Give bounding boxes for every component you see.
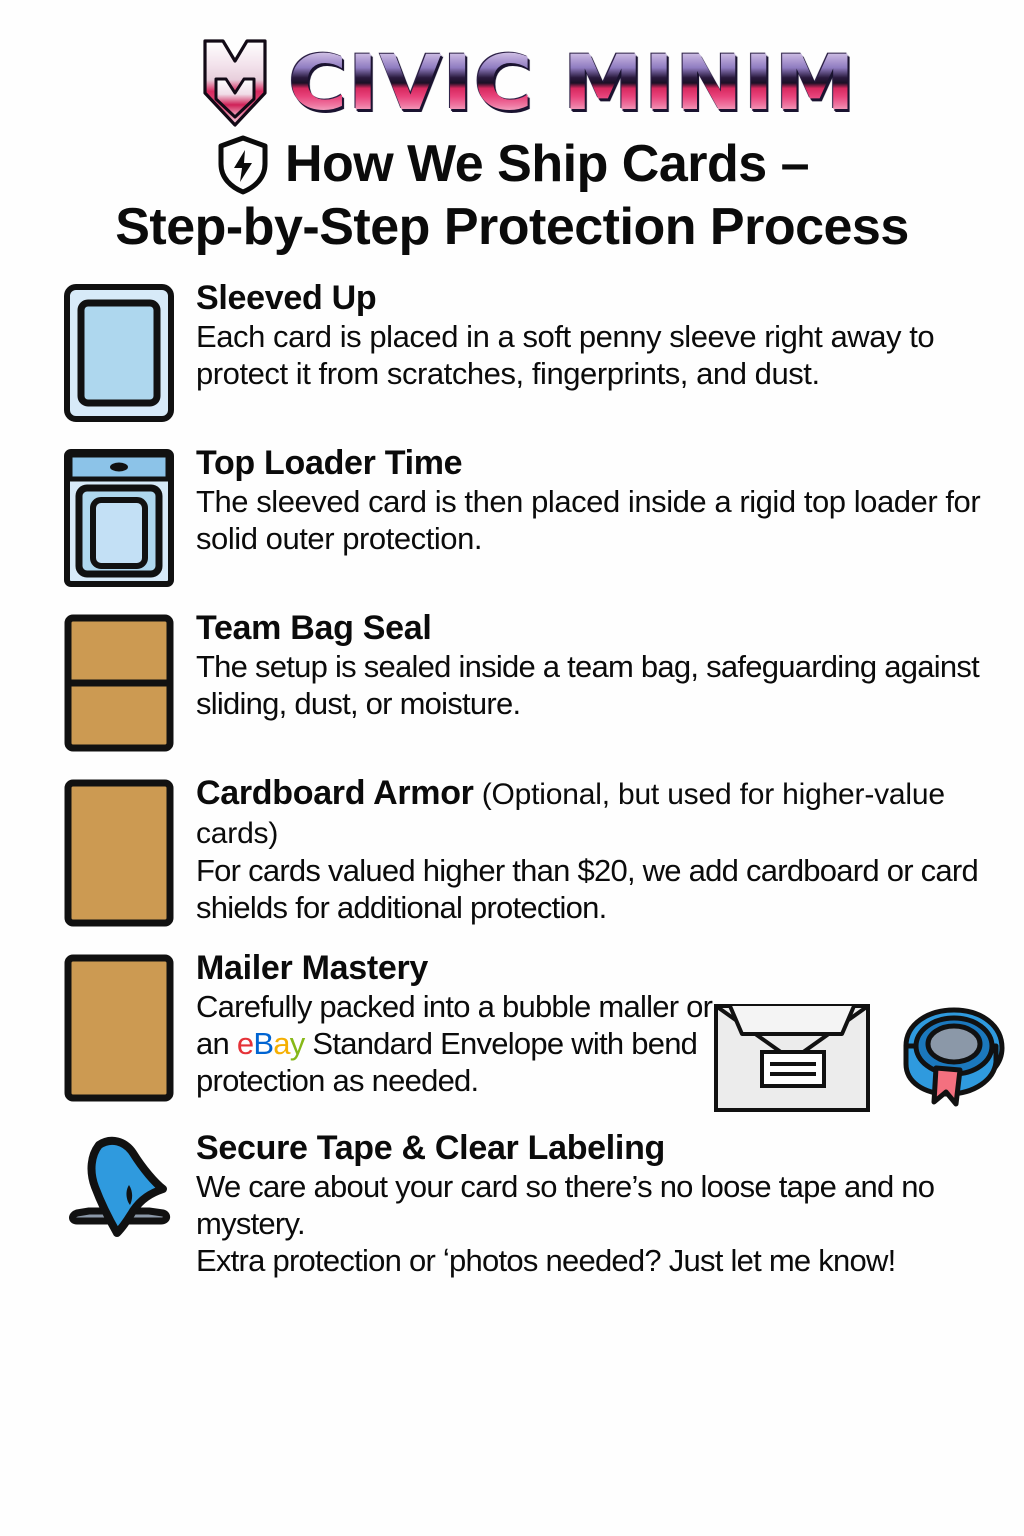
step-icon-wrap [60,1129,178,1244]
step-body: Sleeved Up Each card is placed in a soft… [196,279,1010,392]
ebay-letter-b: B [253,1026,273,1061]
steps-list: Sleeved Up Each card is placed in a soft… [0,279,1024,1279]
step-heading: Cardboard Armor (Optional, but used for … [196,774,1010,852]
step-top-loader-time: Top Loader Time The sleeved card is then… [60,444,1010,593]
step-sleeved-up: Sleeved Up Each card is placed in a soft… [60,279,1010,428]
civic-minim-chevron-logo-icon [200,37,270,129]
step-heading: Mailer Mastery [196,949,1010,988]
step-heading: Team Bag Seal [196,609,1010,648]
step-heading-main: Cardboard Armor [196,774,474,812]
ebay-letter-e: e [237,1026,254,1061]
step-description: Each card is placed in a soft penny slee… [196,318,1010,392]
step-cardboard-armor: Cardboard Armor (Optional, but used for … [60,774,1010,933]
ebay-letter-y: y [290,1026,305,1061]
step-body: Secure Tape & Clear Labeling We care abo… [196,1129,1010,1279]
envelope-icon [712,1002,872,1119]
step-icon-wrap [60,949,178,1108]
mailer-side-icons [712,988,1010,1119]
bubble-mailer-icon [63,953,175,1108]
shield-bolt-icon [215,134,271,196]
top-loader-card-icon [63,448,175,593]
step-icon-wrap [60,444,178,593]
step-description-line-2: Extra protection or ʻphotos needed? Just… [196,1242,1010,1279]
step-icon-wrap [60,609,178,758]
penny-sleeve-card-icon [63,283,175,428]
brand-header: CIVIC MINIM [0,0,1024,120]
step-description: The setup is sealed inside a team bag, s… [196,648,1010,722]
step-icon-wrap [60,279,178,428]
step-heading: Top Loader Time [196,444,1010,483]
mailer-text-and-icons: Carefully packed into a bubble maller or… [196,988,1010,1119]
step-body: Top Loader Time The sleeved card is then… [196,444,1010,557]
infographic-page: CIVIC MINIM How We Ship Cards – Step-by-… [0,0,1024,1536]
title-text-line-1: How We Ship Cards – [285,136,809,193]
cardboard-sheet-icon [63,778,175,933]
title-line-1: How We Ship Cards – [40,134,984,196]
step-description: The sleeved card is then placed inside a… [196,483,1010,557]
step-mailer-mastery: Mailer Mastery Carefully packed into a b… [60,949,1010,1119]
step-secure-tape-clear-labeling: Secure Tape & Clear Labeling We care abo… [60,1129,1010,1279]
ebay-wordmark: eBay [237,1026,305,1061]
tape-roll-icon [890,1002,1010,1115]
team-bag-icon [63,613,175,758]
title-text-line-2: Step-by-Step Protection Process [40,198,984,257]
page-title: How We Ship Cards – Step-by-Step Protect… [0,134,1024,257]
step-heading: Secure Tape & Clear Labeling [196,1129,1010,1168]
step-team-bag-seal: Team Bag Seal The setup is sealed inside… [60,609,1010,758]
brand-wordmark: CIVIC MINIM [288,45,856,121]
step-body: Team Bag Seal The setup is sealed inside… [196,609,1010,722]
step-description-line-1: We care about your card so there’s no lo… [196,1168,1010,1242]
step-icon-wrap [60,774,178,933]
ebay-letter-a: a [273,1026,290,1061]
tape-dispenser-icon [59,1133,179,1244]
step-description: For cards valued higher than $20, we add… [196,852,1010,926]
step-description: Carefully packed into a bubble maller or… [196,988,714,1100]
step-body: Mailer Mastery Carefully packed into a b… [196,949,1010,1119]
step-body: Cardboard Armor (Optional, but used for … [196,774,1010,926]
step-heading: Sleeved Up [196,279,1010,318]
